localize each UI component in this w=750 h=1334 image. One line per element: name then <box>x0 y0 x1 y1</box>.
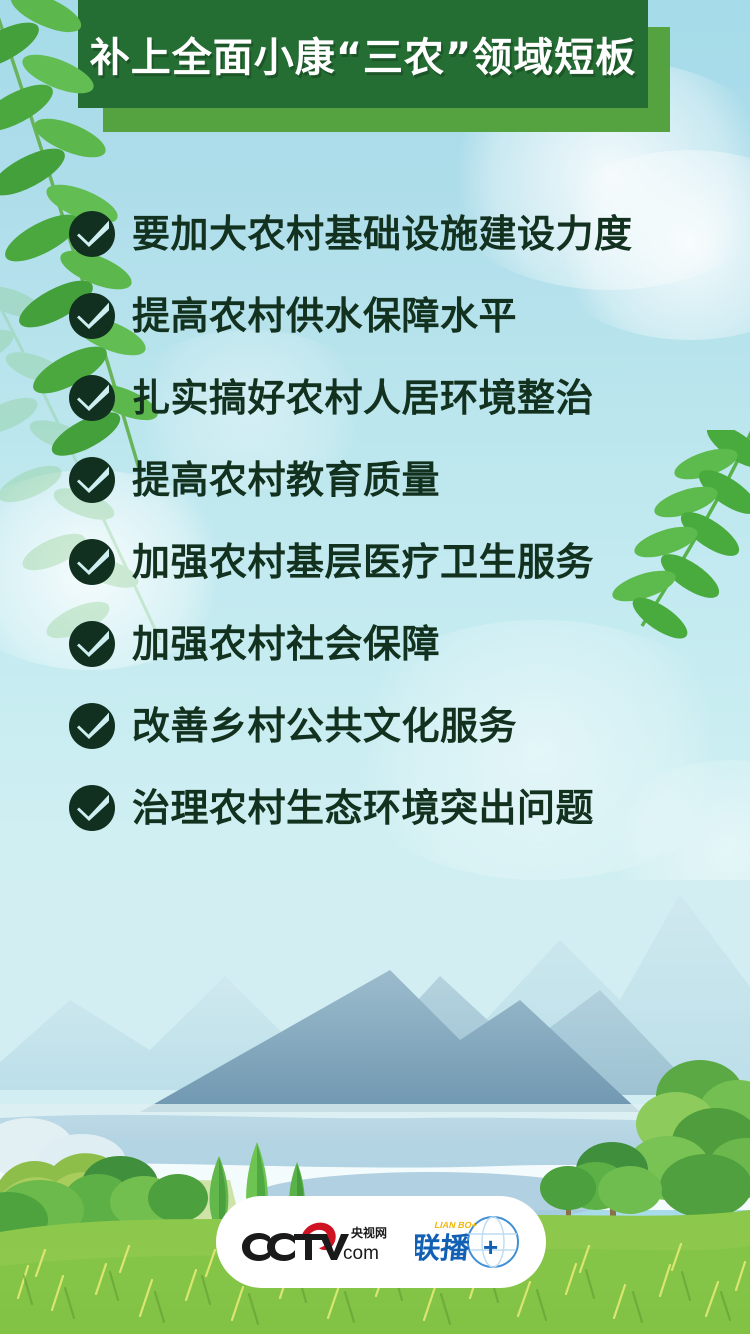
list-item[interactable]: 加强农村社会保障 <box>0 616 750 671</box>
cctv-logo[interactable]: 央视网 com <box>239 1219 389 1265</box>
page-title: 补上全面小康“三农”领域短板 <box>90 25 637 83</box>
lianbo-chinese-label: 联播 <box>415 1231 472 1265</box>
check-circle-icon <box>68 374 116 422</box>
list-item-label: 加强农村基层医疗卫生服务 <box>132 543 594 581</box>
check-circle-icon <box>68 538 116 586</box>
list-item-label: 提高农村教育质量 <box>132 461 440 499</box>
cctv-chinese-label: 央视网 <box>351 1225 387 1240</box>
list-item[interactable]: 扎实搞好农村人居环境整治 <box>0 370 750 425</box>
list-item[interactable]: 加强农村基层医疗卫生服务 <box>0 534 750 589</box>
check-circle-icon <box>68 292 116 340</box>
list-item-label: 治理农村生态环境突出问题 <box>132 789 594 827</box>
list-item-label: 改善乡村公共文化服务 <box>132 707 517 745</box>
lianbo-pinyin-label: LIAN BO+ <box>434 1220 478 1230</box>
check-circle-icon <box>68 620 116 668</box>
check-circle-icon <box>68 210 116 258</box>
lianbo-plus-label: + <box>483 1232 498 1262</box>
list-item-label: 加强农村社会保障 <box>132 625 440 663</box>
list-item[interactable]: 要加大农村基础设施建设力度 <box>0 206 750 261</box>
list-item-label: 要加大农村基础设施建设力度 <box>132 215 633 253</box>
poster-root: 补上全面小康“三农”领域短板 <box>0 0 750 1334</box>
footer-logo-bar: 央视网 com LIAN BO+ 联播 + <box>216 1196 546 1288</box>
list-item[interactable]: 改善乡村公共文化服务 <box>0 698 750 753</box>
title-banner: 补上全面小康“三农”领域短板 <box>78 0 648 108</box>
list-item-label: 扎实搞好农村人居环境整治 <box>132 379 594 417</box>
list-item[interactable]: 治理农村生态环境突出问题 <box>0 780 750 835</box>
checklist: 要加大农村基础设施建设力度 提高农村供水保障水平 扎实搞好农村人居环境整治 提高… <box>0 206 750 862</box>
cctv-domain-label: com <box>343 1243 379 1264</box>
lianbo-logo[interactable]: LIAN BO+ 联播 + <box>415 1214 523 1270</box>
check-circle-icon <box>68 456 116 504</box>
check-circle-icon <box>68 784 116 832</box>
list-item[interactable]: 提高农村教育质量 <box>0 452 750 507</box>
check-circle-icon <box>68 702 116 750</box>
list-item[interactable]: 提高农村供水保障水平 <box>0 288 750 343</box>
list-item-label: 提高农村供水保障水平 <box>132 297 517 335</box>
